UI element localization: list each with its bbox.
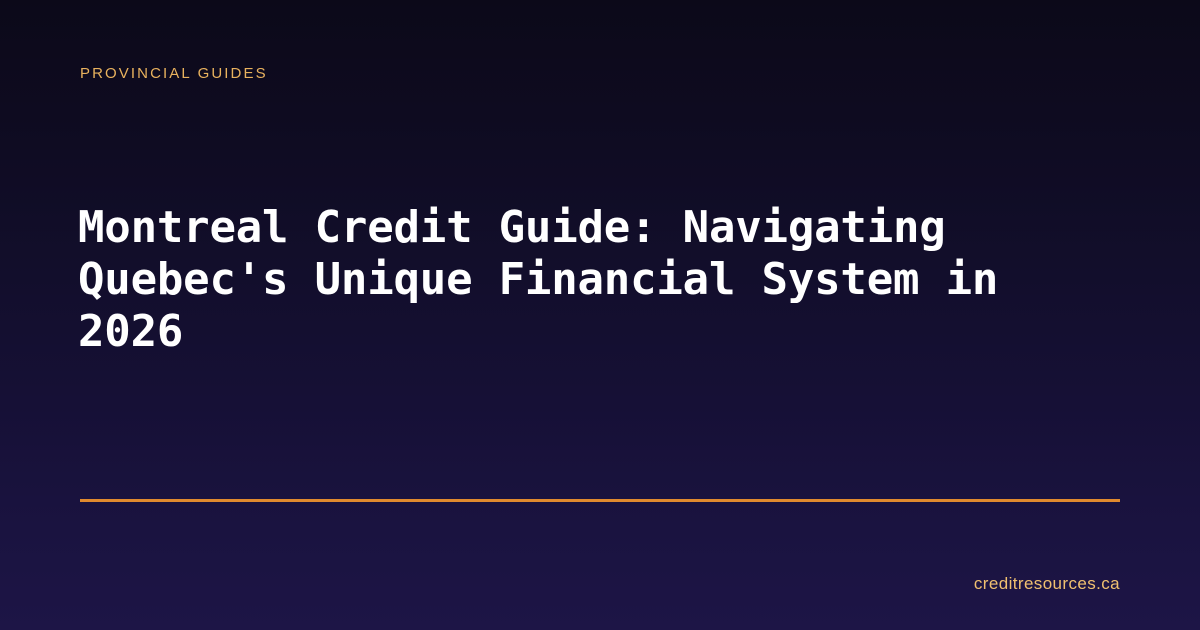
- card-content: PROVINCIAL GUIDES Montreal Credit Guide:…: [80, 0, 1120, 630]
- accent-divider: [80, 499, 1120, 502]
- category-eyebrow: PROVINCIAL GUIDES: [80, 64, 268, 84]
- share-card: PROVINCIAL GUIDES Montreal Credit Guide:…: [0, 0, 1200, 630]
- site-domain-label: creditresources.ca: [80, 572, 1120, 596]
- page-title: Montreal Credit Guide: Navigating Quebec…: [78, 202, 1123, 358]
